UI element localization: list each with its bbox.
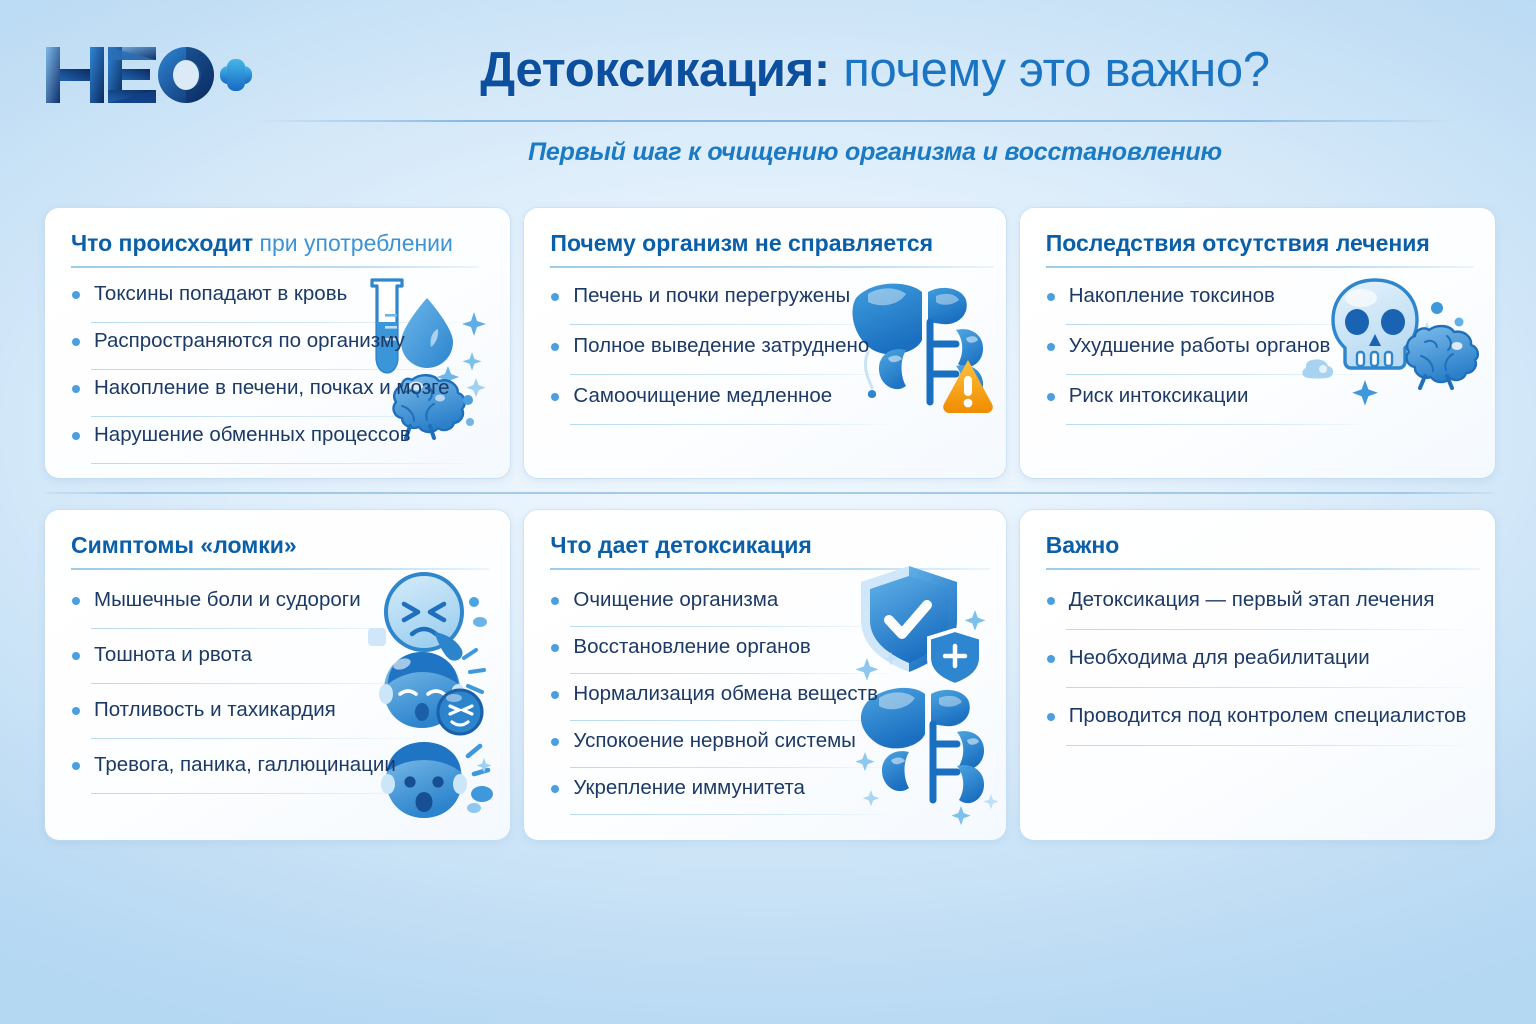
card-items: Очищение организма Восстановление органо… (548, 588, 888, 823)
bullet-icon (551, 644, 559, 652)
page-title: Детоксикация: почему это важно? (255, 38, 1495, 102)
bullet-icon (551, 393, 559, 401)
card-why-body-fails: Почему организм не справляется Печень и … (524, 208, 1005, 478)
list-item: Проводится под контролем специалистов (1044, 704, 1464, 746)
list-item-label: Очищение организма (573, 588, 778, 611)
card-title-bold: Что дает детоксикация (550, 532, 811, 558)
list-item: Восстановление органов (548, 635, 888, 674)
list-item-label: Самоочищение медленное (573, 384, 832, 407)
bullet-icon (551, 738, 559, 746)
card-what-happens: Что происходит при употреблении Токсины … (45, 208, 510, 478)
bullet-icon (1047, 597, 1055, 605)
bullet-icon (72, 291, 80, 299)
list-item: Укрепление иммунитета (548, 776, 888, 815)
list-item-label: Тревога, паника, галлюцинации (94, 753, 396, 776)
bullet-icon (72, 338, 80, 346)
card-title-underline (550, 266, 994, 268)
list-item: Необходима для реабилитации (1044, 646, 1464, 688)
list-item-label: Мышечные боли и судороги (94, 588, 361, 611)
bullet-icon (1047, 293, 1055, 301)
list-item: Самоочищение медленное (548, 384, 888, 425)
bullet-icon (72, 597, 80, 605)
card-items: Накопление токсинов Ухудшение работы орг… (1044, 284, 1364, 434)
list-item-label: Печень и почки перегружены (573, 284, 850, 307)
card-items: Печень и почки перегружены Полное выведе… (548, 284, 888, 434)
list-item-label: Ухудшение работы органов (1069, 334, 1331, 357)
page-title-light: почему это важно? (843, 43, 1270, 97)
list-item: Накопление токсинов (1044, 284, 1364, 325)
list-item-label: Накопление токсинов (1069, 284, 1275, 307)
card-title-bold: Что происходит (71, 230, 253, 256)
list-item: Токсины попадают в кровь (69, 282, 469, 323)
bullet-icon (1047, 713, 1055, 721)
card-important: Важно Детоксикация — первый этап лечения… (1020, 510, 1495, 840)
list-item-label: Полное выведение затруднено (573, 334, 869, 357)
card-withdrawal-symptoms: Симптомы «ломки» Мышечные боли и судорог… (45, 510, 510, 840)
cards-row-2: Симптомы «ломки» Мышечные боли и судорог… (45, 510, 1495, 840)
list-item: Распространяются по организму (69, 329, 469, 370)
card-detox-benefits: Что дает детоксикация Очищение организма… (524, 510, 1005, 840)
bullet-icon (1047, 393, 1055, 401)
list-item: Потливость и тахикардия (69, 698, 414, 739)
card-consequences: Последствия отсутствия лечения Накоплени… (1020, 208, 1495, 478)
card-title-underline (71, 568, 489, 570)
page-subtitle: Первый шаг к очищению организма и восста… (255, 138, 1495, 167)
card-items: Токсины попадают в кровь Распространяютс… (69, 282, 469, 470)
list-item: Детоксикация — первый этап лечения (1044, 588, 1464, 630)
card-title: Важно (1046, 530, 1475, 560)
bullet-icon (551, 785, 559, 793)
bullet-icon (551, 343, 559, 351)
list-item-label: Необходима для реабилитации (1069, 646, 1370, 669)
card-title: Что происходит при употреблении (71, 228, 490, 258)
list-item-label: Восстановление органов (573, 635, 810, 658)
list-item: Нарушение обменных процессов (69, 423, 469, 464)
neo-plus-logo (44, 41, 254, 111)
list-item: Накопление в печени, почках и мозге (69, 376, 469, 417)
page-title-bold: Детоксикация: (480, 43, 830, 97)
list-item-label: Потливость и тахикардия (94, 698, 336, 721)
bullet-icon (1047, 655, 1055, 663)
list-item: Полное выведение затруднено (548, 334, 888, 375)
list-item: Очищение организма (548, 588, 888, 627)
bullet-icon (72, 385, 80, 393)
card-title: Симптомы «ломки» (71, 530, 490, 560)
bullet-icon (72, 707, 80, 715)
card-title-underline (1046, 266, 1474, 268)
cards-grid: Что происходит при употреблении Токсины … (45, 208, 1495, 840)
bullet-icon (72, 432, 80, 440)
card-title-bold: Почему организм не справляется (550, 230, 933, 256)
list-item: Мышечные боли и судороги (69, 588, 414, 629)
page-header: Детоксикация: почему это важно? Первый ш… (0, 0, 1536, 185)
list-item-label: Риск интоксикации (1069, 384, 1249, 407)
card-title-underline (71, 266, 479, 268)
list-item: Успокоение нервной системы (548, 729, 888, 768)
list-item: Нормализация обмена веществ (548, 682, 888, 721)
card-title-bold: Симптомы «ломки» (71, 532, 297, 558)
list-item-label: Токсины попадают в кровь (94, 282, 347, 305)
card-items: Мышечные боли и судороги Тошнота и рвота… (69, 588, 414, 808)
bullet-icon (72, 762, 80, 770)
list-item: Печень и почки перегружены (548, 284, 888, 325)
card-title-underline (550, 568, 990, 570)
list-item-label: Детоксикация — первый этап лечения (1069, 588, 1435, 611)
card-title-light: при употреблении (260, 230, 453, 256)
list-item: Тревога, паника, галлюцинации (69, 753, 414, 794)
bullet-icon (1047, 343, 1055, 351)
list-item-label: Проводится под контролем специалистов (1069, 704, 1467, 727)
card-title-bold: Последствия отсутствия лечения (1046, 230, 1430, 256)
bullet-icon (551, 691, 559, 699)
list-item-label: Тошнота и рвота (94, 643, 252, 666)
list-item-label: Успокоение нервной системы (573, 729, 856, 752)
header-divider (255, 120, 1455, 122)
card-items: Детоксикация — первый этап лечения Необх… (1044, 588, 1464, 762)
bullet-icon (551, 293, 559, 301)
cards-row-1: Что происходит при употреблении Токсины … (45, 208, 1495, 478)
card-title: Почему организм не справляется (550, 228, 985, 258)
list-item-label: Нарушение обменных процессов (94, 423, 411, 446)
bullet-icon (72, 652, 80, 660)
list-item: Тошнота и рвота (69, 643, 414, 684)
bullet-icon (551, 597, 559, 605)
list-item: Ухудшение работы органов (1044, 334, 1364, 375)
card-title: Последствия отсутствия лечения (1046, 228, 1475, 258)
card-title: Что дает детоксикация (550, 530, 985, 560)
list-item-label: Укрепление иммунитета (573, 776, 805, 799)
card-title-underline (1046, 568, 1480, 570)
list-item-label: Накопление в печени, почках и мозге (94, 376, 450, 399)
list-item-label: Распространяются по организму (94, 329, 405, 352)
card-title-bold: Важно (1046, 532, 1120, 558)
list-item: Риск интоксикации (1044, 384, 1364, 425)
list-item-label: Нормализация обмена веществ (573, 682, 878, 705)
